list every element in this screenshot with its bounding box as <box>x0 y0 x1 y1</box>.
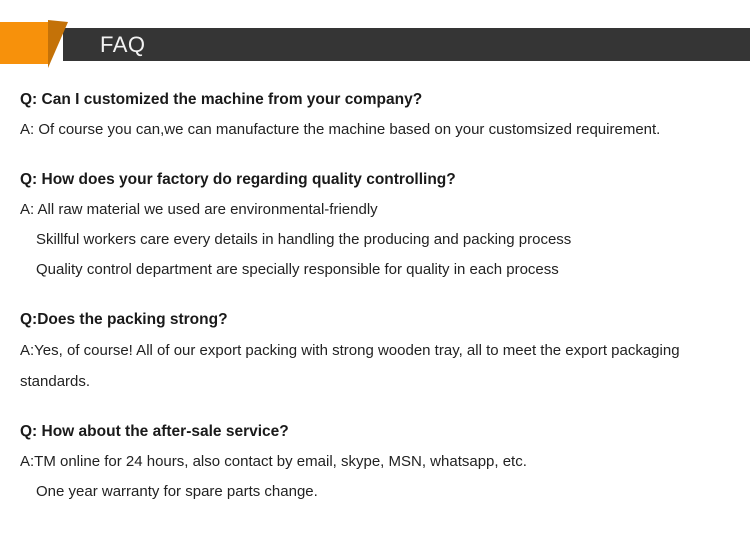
page-title: FAQ <box>100 28 146 61</box>
faq-answer: One year warranty for spare parts change… <box>20 477 730 507</box>
faq-question: Q: Can I customized the machine from you… <box>20 85 730 115</box>
faq-item: Q: Can I customized the machine from you… <box>0 85 750 145</box>
faq-question: Q: How about the after-sale service? <box>20 417 730 447</box>
faq-item: Q: How does your factory do regarding qu… <box>0 165 750 285</box>
ribbon-tab-face <box>0 22 48 64</box>
faq-answer: A: All raw material we used are environm… <box>20 195 730 225</box>
faq-item: Q: How about the after-sale service? A:T… <box>0 417 750 507</box>
faq-answer: Skillful workers care every details in h… <box>20 225 730 255</box>
faq-answer: A:Yes, of course! All of our export pack… <box>20 335 730 397</box>
spacer <box>0 68 750 85</box>
faq-item: Q:Does the packing strong? A:Yes, of cou… <box>0 305 750 397</box>
spacer <box>0 285 750 305</box>
faq-header: FAQ <box>0 0 750 68</box>
faq-question: Q: How does your factory do regarding qu… <box>20 165 730 195</box>
faq-answer: A:TM online for 24 hours, also contact b… <box>20 447 730 477</box>
header-dark-bar <box>63 28 750 61</box>
spacer <box>0 397 750 417</box>
faq-list: Q: Can I customized the machine from you… <box>0 68 750 507</box>
ribbon-tab-icon <box>0 20 72 66</box>
faq-answer: Quality control department are specially… <box>20 255 730 285</box>
faq-question: Q:Does the packing strong? <box>20 305 730 335</box>
spacer <box>0 145 750 165</box>
faq-answer: A: Of course you can,we can manufacture … <box>20 115 730 145</box>
ribbon-tab-side <box>48 20 68 68</box>
